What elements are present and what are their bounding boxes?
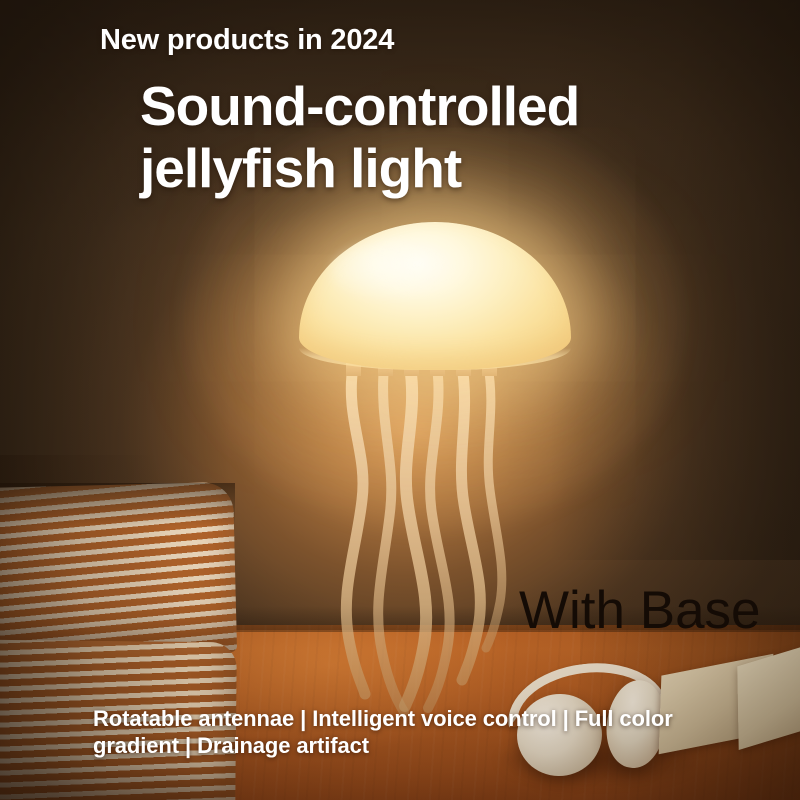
with-base-badge: With Base [519,580,761,641]
feature-list-text: Rotatable antennae | Intelligent voice c… [93,706,753,760]
product-promo-image: New products in 2024 Sound-controlled je… [0,0,800,800]
page-title: Sound-controlled jellyfish light [140,76,579,199]
eyebrow-text: New products in 2024 [100,24,394,57]
headline-line-2: jellyfish light [140,138,579,200]
headline-line-1: Sound-controlled [140,75,579,137]
pillow-upper-cushion [0,482,237,658]
wall-shadow-right [550,0,800,560]
